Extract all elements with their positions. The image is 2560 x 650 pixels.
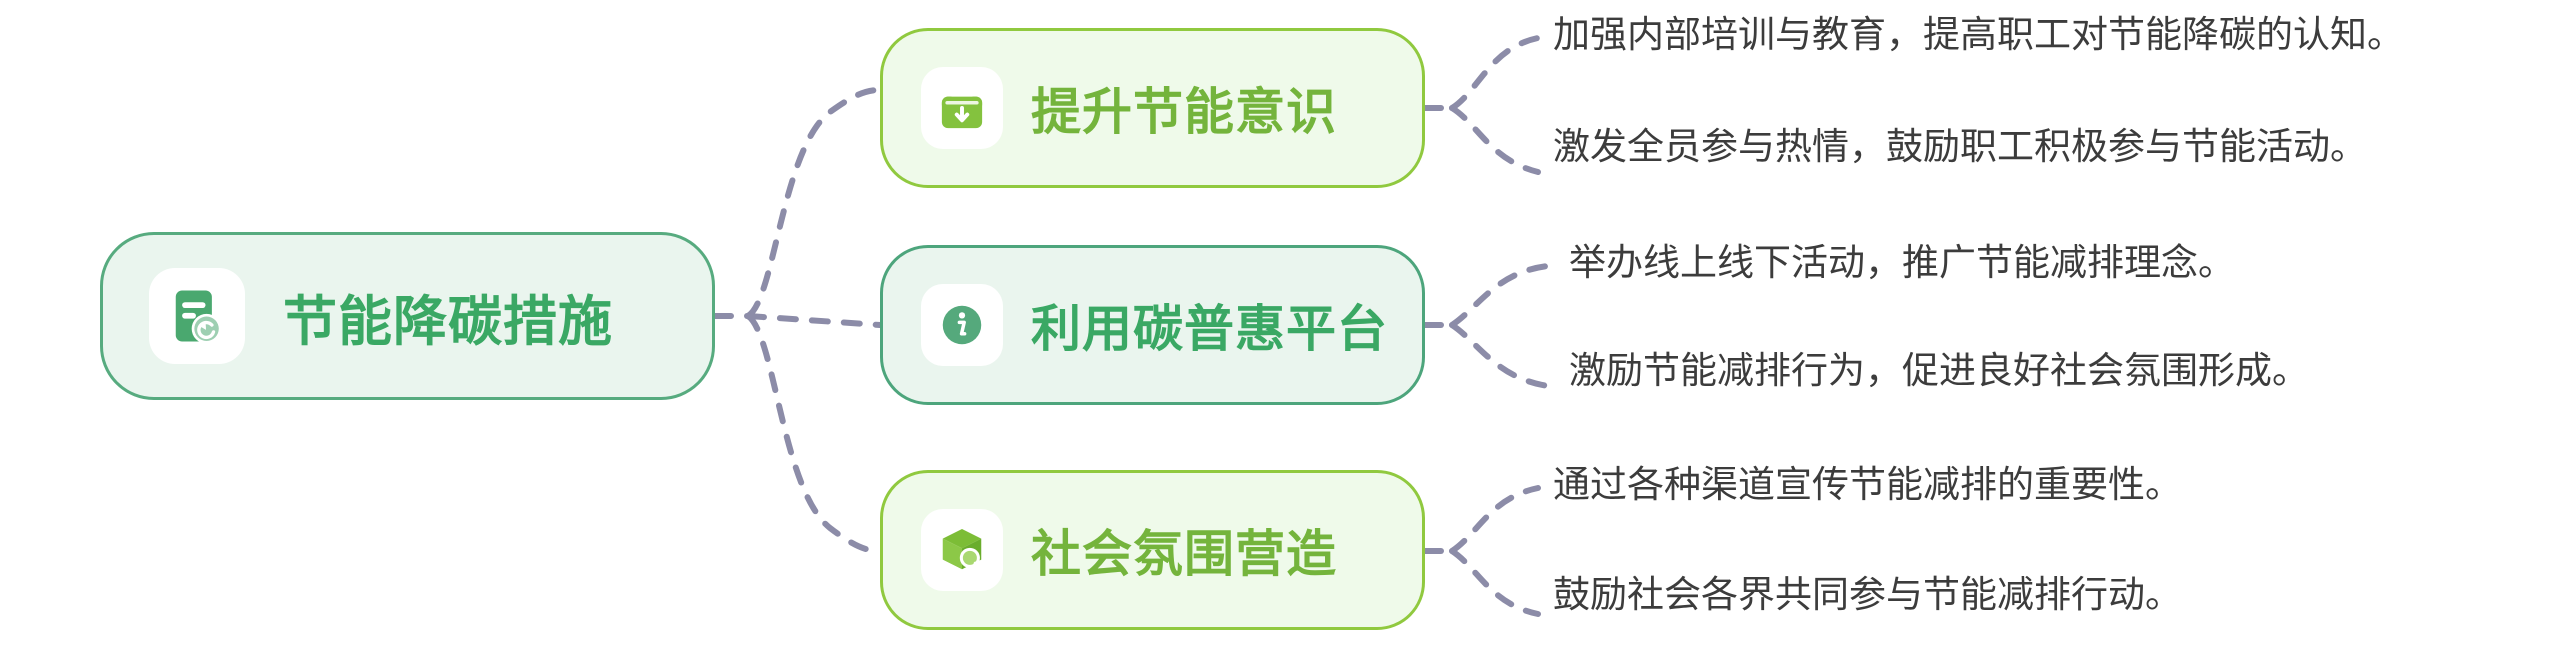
root-label: 节能降碳措施 (283, 277, 613, 356)
branch-node-1[interactable]: 利用碳普惠平台 (880, 245, 1425, 405)
edge-root-to-branch-2 (748, 316, 880, 551)
leaf-text: 举办线上线下活动，推广节能减排理念。 (1569, 240, 2235, 286)
leaf-text: 鼓励社会各界共同参与节能减排行动。 (1553, 572, 2182, 618)
leaf-text: 激励节能减排行为，促进良好社会氛围形成。 (1569, 348, 2309, 394)
edge-branch-0-leaf-0 (1452, 38, 1538, 108)
edge-branch-1-leaf-0 (1452, 266, 1548, 325)
edge-branch-2-leaf-1 (1452, 551, 1538, 614)
branch-label-0: 提升节能意识 (1031, 72, 1337, 144)
box-download-icon (921, 67, 1003, 149)
branch-node-2[interactable]: 社会氛围营造 (880, 470, 1425, 630)
branch-label-2: 社会氛围营造 (1031, 514, 1337, 586)
mindmap-canvas: 节能降碳措施 提升节能意识 利用碳普惠平台 (0, 0, 2560, 650)
edge-root-to-branch-0 (748, 90, 880, 316)
leaf-text: 通过各种渠道宣传节能减排的重要性。 (1553, 462, 2182, 508)
edge-branch-0-leaf-1 (1452, 108, 1538, 172)
edge-branch-2-leaf-0 (1452, 488, 1538, 551)
branch-node-0[interactable]: 提升节能意识 (880, 28, 1425, 188)
document-refresh-icon (149, 268, 245, 364)
edge-root-to-branch-1 (748, 316, 880, 325)
leaf-text: 激发全员参与热情，鼓励职工积极参与节能活动。 (1553, 124, 2367, 170)
leaf-text: 加强内部培训与教育，提高职工对节能降碳的认知。 (1553, 12, 2404, 58)
branch-label-1: 利用碳普惠平台 (1031, 289, 1388, 361)
edge-branch-1-leaf-1 (1452, 325, 1548, 386)
box-search-icon (921, 509, 1003, 591)
info-circle-icon (921, 284, 1003, 366)
root-node[interactable]: 节能降碳措施 (100, 232, 715, 400)
